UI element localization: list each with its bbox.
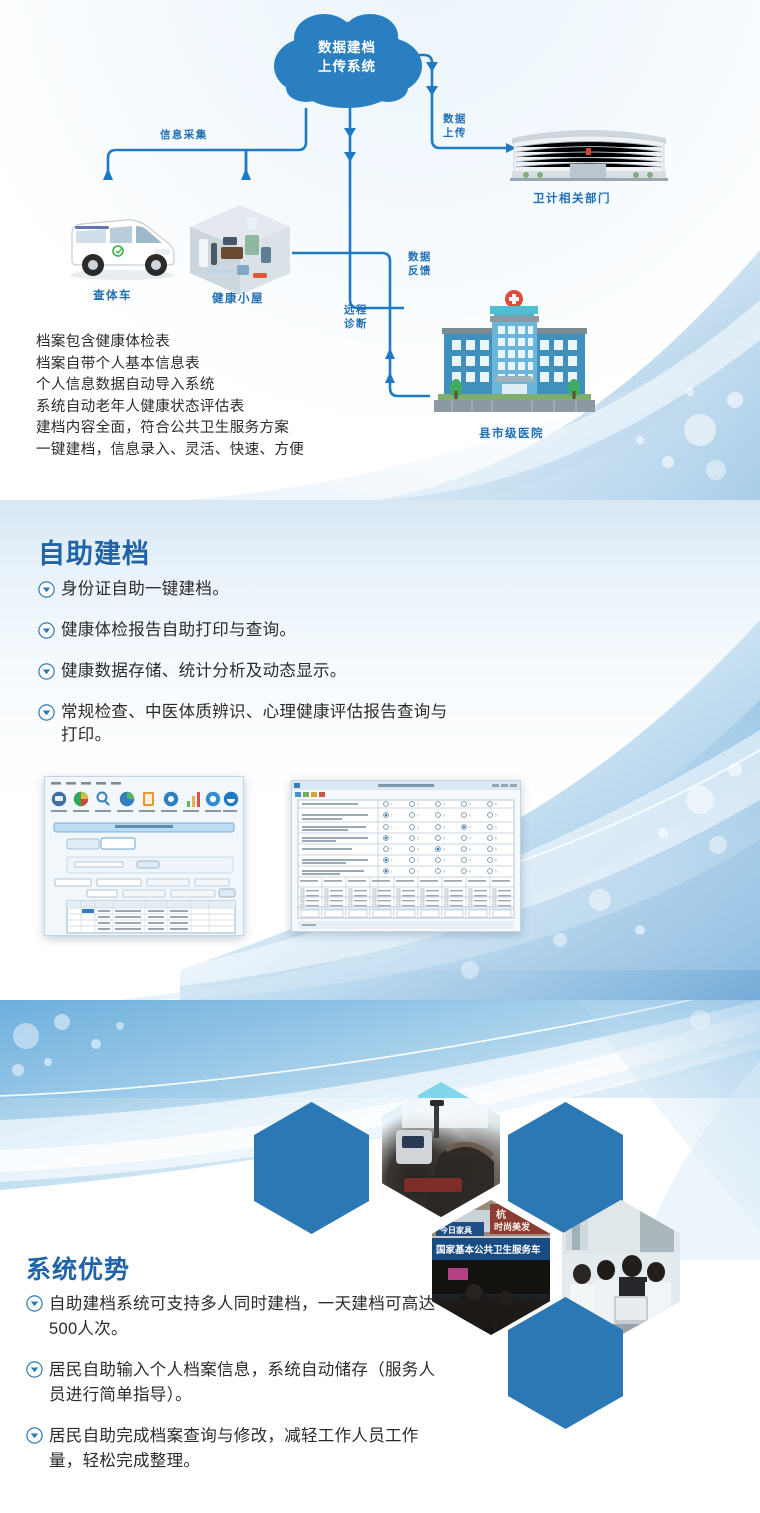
section1-feature-item: 个人信息数据自动导入系统: [36, 375, 304, 397]
county-hospital-image: [432, 290, 597, 420]
list-item-label: 健康数据存储、统计分析及动态显示。: [61, 660, 347, 683]
list-item: 健康体检报告自助打印与查询。: [38, 619, 508, 644]
section3-feature-list: 自助建档系统可支持多人同时建档，一天建档可高达500人次。 居民自助输入个人档案…: [26, 1292, 468, 1490]
list-item-label: 健康体检报告自助打印与查询。: [61, 619, 296, 642]
svg-text:杭: 杭: [496, 1208, 506, 1221]
svg-text:4: 4: [469, 858, 471, 862]
list-item-label: 居民自助完成档案查询与修改，减轻工作人员工作量，轻松完成整理。: [49, 1424, 439, 1474]
list-item-label: 身份证自助一键建档。: [61, 578, 229, 601]
svg-text:2: 2: [417, 869, 419, 873]
svg-text:2: 2: [417, 813, 419, 817]
node-label-health-department: 卫计相关部门: [533, 190, 611, 206]
edge-label-data-feedback: 数据 反馈: [408, 250, 432, 278]
list-item: 居民自助输入个人档案信息，系统自动储存（服务人员进行简单指导）。: [26, 1358, 468, 1408]
chevron-down-circle-icon: [38, 704, 55, 726]
svg-text:2: 2: [417, 825, 419, 829]
cloud-label-line1: 数据建档: [262, 38, 432, 57]
svg-text:1: 1: [391, 802, 393, 806]
list-item: 自助建档系统可支持多人同时建档，一天建档可高达500人次。: [26, 1292, 468, 1342]
section2-title: 自助建档: [38, 532, 150, 571]
list-item: 健康数据存储、统计分析及动态显示。: [38, 660, 508, 685]
section-self-service-archiving: 自助建档 身份证自助一键建档。 健康体检报告自: [0, 500, 760, 1000]
section1-feature-item: 建档内容全面，符合公共卫生服务方案: [36, 418, 304, 440]
svg-text:1: 1: [391, 847, 393, 851]
svg-text:2: 2: [417, 836, 419, 840]
hospital-icon: [432, 290, 597, 420]
svg-text:1: 1: [391, 836, 393, 840]
hex-solid-left: [254, 1102, 369, 1234]
checkup-van-image: [62, 205, 182, 283]
svg-text:时尚美发: 时尚美发: [494, 1221, 531, 1232]
section3-title: 系统优势: [26, 1250, 130, 1286]
svg-text:3: 3: [443, 825, 445, 829]
svg-text:4: 4: [469, 836, 471, 840]
svg-text:3: 3: [443, 836, 445, 840]
svg-text:1: 1: [391, 858, 393, 862]
list-item-label: 自助建档系统可支持多人同时建档，一天建档可高达500人次。: [49, 1292, 449, 1342]
section1-feature-item: 一键建档，信息录入、灵活、快速、方便: [36, 440, 304, 462]
svg-text:5: 5: [495, 802, 497, 806]
svg-text:2: 2: [417, 847, 419, 851]
screenshot-archive-management[interactable]: [44, 776, 244, 936]
section1-feature-list: 档案包含健康体检表 档案自带个人基本信息表 个人信息数据自动导入系统 系统自动老…: [36, 332, 304, 461]
hex-photo-scanning[interactable]: [382, 1082, 500, 1217]
svg-text:国家基本公共卫生服务车: 国家基本公共卫生服务车: [436, 1244, 541, 1256]
node-label-health-hut: 健康小屋: [212, 290, 264, 306]
edge-label-data-upload-line2: 上传: [443, 126, 467, 140]
svg-text:3: 3: [443, 813, 445, 817]
cloud-node-data-upload-system: 数据建档 上传系统: [262, 8, 432, 113]
poster-page: 数据建档 上传系统 信息采集 数据 上传 数据 反馈 远程 诊断: [0, 0, 760, 1505]
section1-feature-item: 档案包含健康体检表: [36, 332, 304, 354]
node-label-checkup-van: 查体车: [93, 287, 132, 303]
assessment-form-window-image: 12345 12345 12345 12345 12345 12345 1234…: [292, 781, 520, 931]
svg-text:2: 2: [417, 802, 419, 806]
section1-feature-item: 档案自带个人基本信息表: [36, 354, 304, 376]
edge-label-data-feedback-line2: 反馈: [408, 264, 432, 278]
archive-management-window-image: [45, 777, 243, 935]
chevron-down-circle-icon: [38, 622, 55, 644]
government-building-icon: [508, 120, 670, 182]
list-item-label: 居民自助输入个人档案信息，系统自动储存（服务人员进行简单指导）。: [49, 1358, 439, 1408]
svg-text:4: 4: [469, 825, 471, 829]
edge-label-info-collection: 信息采集: [160, 128, 208, 142]
section2-feature-list: 身份证自助一键建档。 健康体检报告自助打印与查询。: [38, 578, 508, 763]
list-item-label: 常规检查、中医体质辨识、心理健康评估报告查询与打印。: [61, 701, 461, 747]
svg-text:1: 1: [391, 825, 393, 829]
cloud-label-line2: 上传系统: [262, 57, 432, 76]
edge-label-remote-diagnosis: 远程 诊断: [344, 303, 368, 331]
svg-text:今日家具: 今日家具: [439, 1225, 472, 1235]
svg-text:4: 4: [469, 869, 471, 873]
svg-text:5: 5: [495, 836, 497, 840]
svg-text:5: 5: [495, 858, 497, 862]
svg-text:5: 5: [495, 869, 497, 873]
chevron-down-circle-icon: [26, 1295, 43, 1317]
svg-text:1: 1: [391, 813, 393, 817]
chevron-down-circle-icon: [26, 1361, 43, 1383]
svg-text:3: 3: [443, 858, 445, 862]
svg-text:2: 2: [417, 858, 419, 862]
section1-feature-item: 系统自动老年人健康状态评估表: [36, 397, 304, 419]
health-department-image: [508, 120, 670, 182]
svg-text:4: 4: [469, 813, 471, 817]
svg-text:1: 1: [391, 869, 393, 873]
list-item: 常规检查、中医体质辨识、心理健康评估报告查询与打印。: [38, 701, 508, 747]
section-architecture-diagram: 数据建档 上传系统 信息采集 数据 上传 数据 反馈 远程 诊断: [0, 0, 760, 500]
svg-text:3: 3: [443, 802, 445, 806]
svg-text:3: 3: [443, 869, 445, 873]
svg-text:3: 3: [443, 847, 445, 851]
van-icon: [62, 205, 182, 283]
chevron-down-circle-icon: [26, 1427, 43, 1449]
list-item: 居民自助完成档案查询与修改，减轻工作人员工作量，轻松完成整理。: [26, 1424, 468, 1474]
scanning-photo-detail: [382, 1082, 500, 1217]
edge-label-data-upload: 数据 上传: [443, 112, 467, 140]
health-hut-icon: [185, 203, 295, 298]
section-system-advantages: 杭 时尚美发 今日家具 国家基本公共卫生服务车: [0, 1000, 760, 1505]
svg-text:5: 5: [495, 825, 497, 829]
edge-label-remote-diagnosis-line1: 远程: [344, 303, 368, 317]
svg-text:5: 5: [495, 847, 497, 851]
cloud-label: 数据建档 上传系统: [262, 38, 432, 76]
screenshot-elderly-assessment-form[interactable]: 12345 12345 12345 12345 12345 12345 1234…: [291, 780, 521, 932]
svg-text:4: 4: [469, 847, 471, 851]
svg-text:4: 4: [469, 802, 471, 806]
health-hut-image: [185, 203, 295, 298]
node-label-county-hospital: 县市级医院: [479, 425, 544, 441]
chevron-down-circle-icon: [38, 581, 55, 603]
edge-label-data-upload-line1: 数据: [443, 112, 467, 126]
svg-text:5: 5: [495, 813, 497, 817]
list-item: 身份证自助一键建档。: [38, 578, 508, 603]
edge-label-data-feedback-line1: 数据: [408, 250, 432, 264]
chevron-down-circle-icon: [38, 663, 55, 685]
edge-label-remote-diagnosis-line2: 诊断: [344, 317, 368, 331]
